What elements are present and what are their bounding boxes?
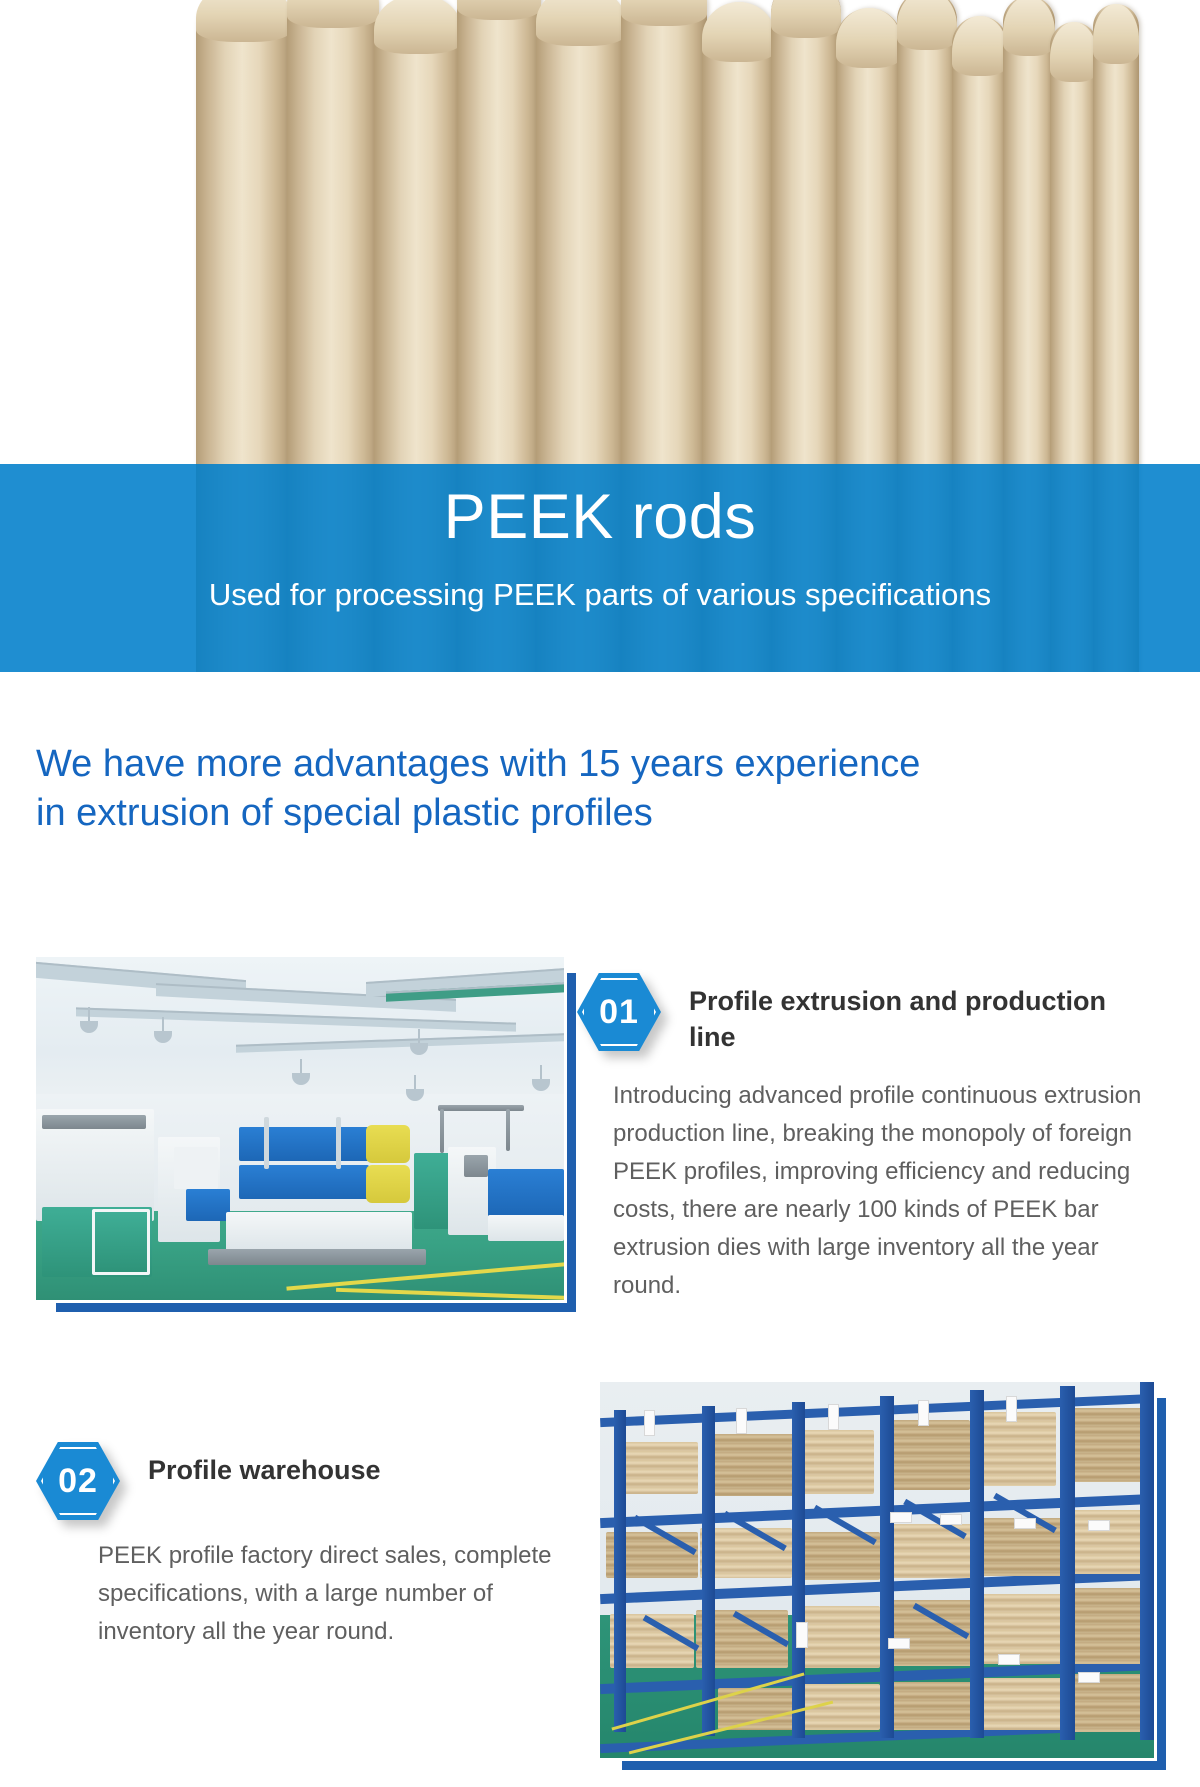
- feature-number-02: 02: [36, 1442, 120, 1520]
- feature-title-01: Profile extrusion and production line: [661, 973, 1137, 1055]
- section-headline: We have more advantages with 15 years ex…: [36, 740, 1176, 837]
- headline-line-1: We have more advantages with 15 years ex…: [36, 740, 1176, 789]
- feature-badge-02: 02: [36, 1442, 120, 1520]
- feature-number-01: 01: [577, 973, 661, 1051]
- feature-body-02: PEEK profile factory direct sales, compl…: [98, 1537, 568, 1651]
- page-title: PEEK rods: [0, 464, 1200, 549]
- page-subtitle: Used for processing PEEK parts of variou…: [0, 549, 1200, 610]
- feature-title-02: Profile warehouse: [120, 1442, 381, 1488]
- product-detail-page: PEEK rods Used for processing PEEK parts…: [0, 0, 1200, 1787]
- extrusion-production-line-photo: [36, 957, 576, 1312]
- feature-badge-01: 01: [577, 973, 661, 1051]
- hero-section: PEEK rods Used for processing PEEK parts…: [0, 0, 1200, 672]
- feature-body-01: Introducing advanced profile continuous …: [613, 1077, 1143, 1304]
- profile-warehouse-photo: [600, 1382, 1166, 1770]
- headline-line-2: in extrusion of special plastic profiles: [36, 789, 1176, 838]
- hero-banner: PEEK rods Used for processing PEEK parts…: [0, 464, 1200, 672]
